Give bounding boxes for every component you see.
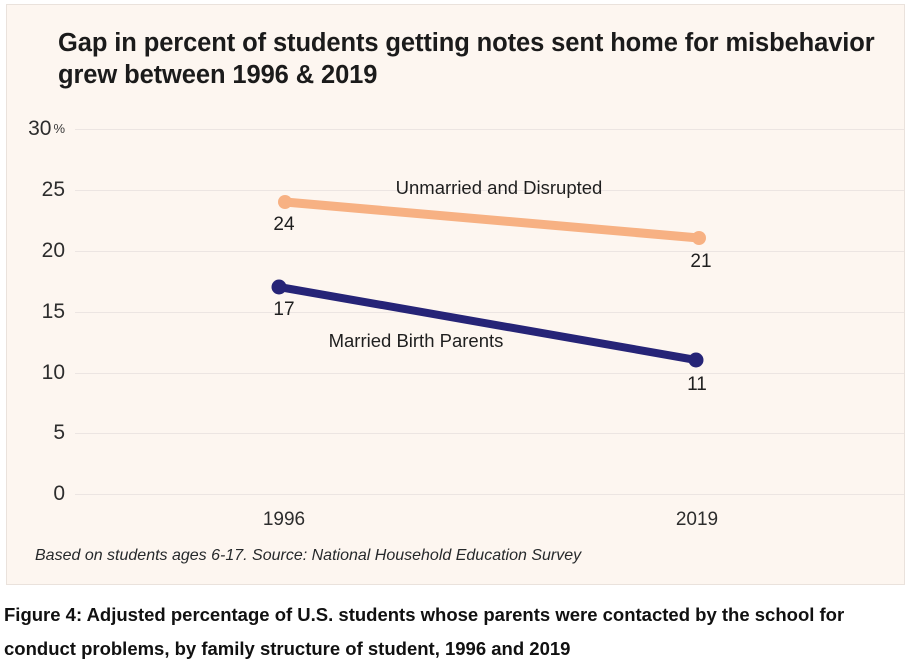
data-label-unmarried-1996: 24 — [273, 214, 294, 236]
chart-footnote: Based on students ages 6-17. Source: Nat… — [35, 547, 581, 565]
point-married-birth-parents-1996 — [272, 280, 287, 295]
x-axis-tick-1996: 1996 — [263, 509, 305, 531]
series-label-unmarried-and-disrupted: Unmarried and Disrupted — [396, 177, 603, 199]
plot-area: 30% 25 20 15 10 5 0 — [7, 5, 905, 585]
data-label-married-2019: 11 — [687, 374, 707, 396]
figure-caption: Figure 4: Adjusted percentage of U.S. st… — [4, 598, 889, 666]
point-married-birth-parents-2019 — [689, 353, 704, 368]
data-label-unmarried-2019: 21 — [690, 251, 711, 273]
series-label-married-birth-parents: Married Birth Parents — [329, 330, 504, 352]
point-unmarried-and-disrupted-1996 — [278, 195, 292, 209]
line-unmarried-and-disrupted — [285, 202, 699, 238]
series-lines — [7, 5, 905, 585]
point-unmarried-and-disrupted-2019 — [692, 231, 706, 245]
chart-card: Gap in percent of students getting notes… — [6, 4, 905, 585]
x-axis-tick-2019: 2019 — [676, 509, 718, 531]
data-label-married-1996: 17 — [273, 299, 294, 321]
